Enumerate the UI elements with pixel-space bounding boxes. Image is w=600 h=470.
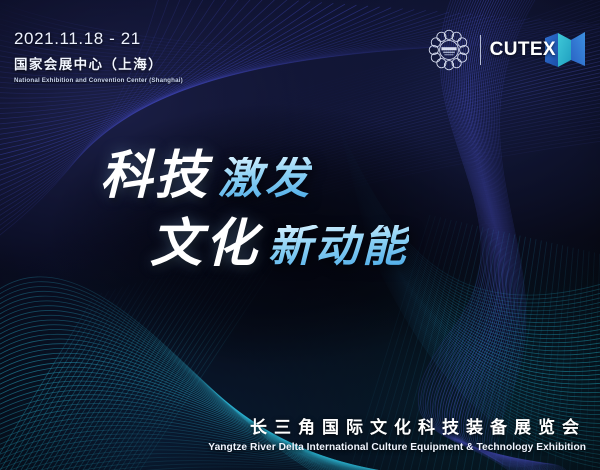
headline-line1-white: 科技 bbox=[100, 150, 210, 202]
headline-line-1: 科技 激发 bbox=[0, 150, 600, 202]
cutex-logo: CUTEX bbox=[490, 30, 586, 70]
circle-ring-emblem-logo bbox=[427, 28, 471, 72]
event-poster: 2021.11.18 - 21 国家会展中心（上海） National Exhi… bbox=[0, 0, 600, 470]
logo-divider bbox=[480, 35, 481, 65]
logo-lockup: CUTEX bbox=[427, 28, 586, 72]
headline-line1-blue: 激发 bbox=[218, 157, 312, 201]
exhibition-title-english: Yangtze River Delta International Cultur… bbox=[208, 442, 586, 453]
event-info-block: 2021.11.18 - 21 国家会展中心（上海） National Exhi… bbox=[14, 30, 183, 84]
venue-name-english: National Exhibition and Convention Cente… bbox=[14, 77, 183, 84]
headline-line2-blue: 新动能 bbox=[268, 225, 409, 269]
headline-line2-white: 文化 bbox=[150, 218, 260, 270]
headline-line-2: 文化 新动能 bbox=[0, 218, 600, 270]
exhibition-title-chinese: 长三角国际文化科技装备展览会 bbox=[208, 418, 586, 438]
cutex-wordmark: CUTEX bbox=[490, 39, 556, 61]
event-date: 2021.11.18 - 21 bbox=[14, 30, 183, 49]
exhibition-title-block: 长三角国际文化科技装备展览会 Yangtze River Delta Inter… bbox=[208, 418, 586, 453]
headline-block: 科技 激发 文化 新动能 bbox=[0, 150, 600, 270]
venue-name-chinese: 国家会展中心（上海） bbox=[14, 53, 183, 73]
